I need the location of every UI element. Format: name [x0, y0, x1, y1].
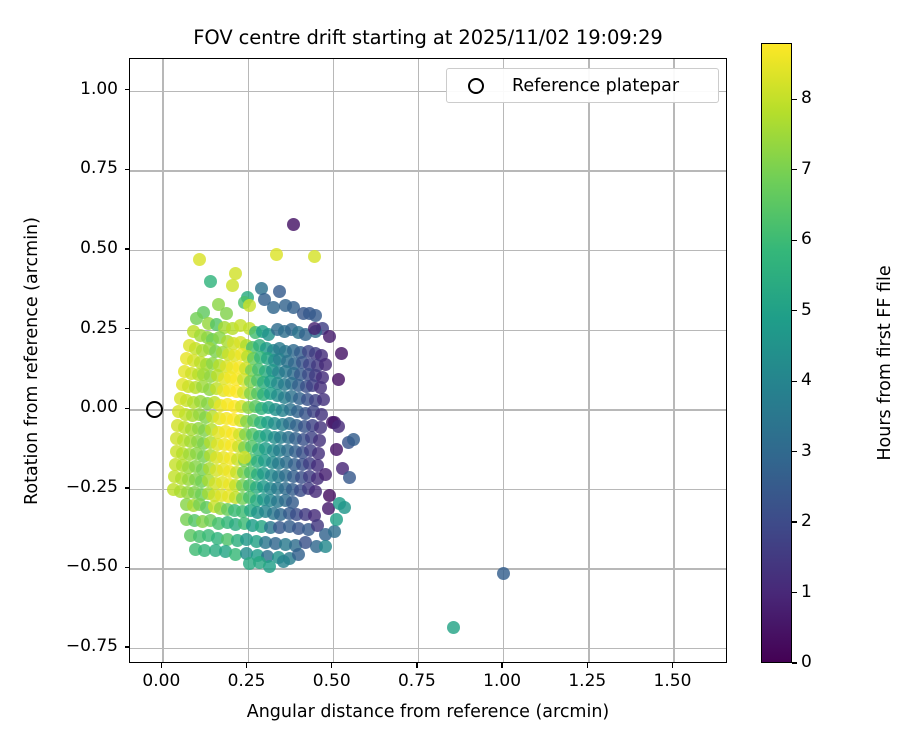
scatter-point — [309, 309, 322, 322]
x-tick-label: 1.25 — [542, 671, 632, 691]
scatter-point — [309, 485, 322, 498]
gridline-horizontal — [130, 250, 726, 251]
y-tick-mark — [125, 408, 130, 409]
gridline-vertical — [418, 59, 419, 662]
scatter-point — [238, 451, 251, 464]
x-tick-mark — [501, 663, 502, 668]
scatter-point — [220, 307, 233, 320]
colorbar-tick-label: 2 — [801, 511, 812, 531]
gridline-horizontal — [130, 648, 726, 649]
scatter-point — [343, 471, 356, 484]
scatter-point — [497, 567, 510, 580]
y-tick-mark — [125, 169, 130, 170]
scatter-point — [323, 330, 336, 343]
scatter-point — [243, 557, 256, 570]
colorbar-tick-mark — [792, 381, 797, 382]
y-tick-mark — [125, 646, 130, 647]
y-tick-mark — [125, 328, 130, 329]
gridline-vertical — [333, 59, 334, 662]
scatter-point — [270, 248, 283, 261]
scatter-point — [243, 299, 256, 312]
page-title: FOV centre drift starting at 2025/11/02 … — [129, 26, 727, 49]
scatter-point — [319, 358, 332, 371]
colorbar-tick-label: 3 — [801, 441, 812, 461]
scatter-point — [308, 322, 321, 335]
y-tick-label: 0.75 — [43, 158, 118, 178]
colorbar-tick-label: 5 — [801, 300, 812, 320]
scatter-point — [319, 468, 332, 481]
x-tick-mark — [161, 663, 162, 668]
scatter-point — [335, 347, 348, 360]
colorbar-tick-mark — [792, 521, 797, 522]
colorbar-tick-mark — [792, 451, 797, 452]
x-tick-label: 0.00 — [116, 671, 206, 691]
scatter-point — [338, 501, 351, 514]
y-tick-mark — [125, 248, 130, 249]
x-tick-mark — [331, 663, 332, 668]
colorbar-tick-label: 6 — [801, 229, 812, 249]
gridline-horizontal — [130, 170, 726, 171]
scatter-point — [317, 393, 330, 406]
scatter-point — [277, 555, 290, 568]
gridline-vertical — [588, 59, 589, 662]
x-tick-mark — [587, 663, 588, 668]
scatter-point — [193, 253, 206, 266]
x-tick-label: 0.50 — [287, 671, 377, 691]
y-tick-mark — [125, 567, 130, 568]
gridline-vertical — [673, 59, 674, 662]
scatter-point — [267, 301, 280, 314]
colorbar-tick-label: 0 — [801, 652, 812, 672]
colorbar-tick-mark — [792, 169, 797, 170]
scatter-point — [287, 218, 300, 231]
scatter-point — [328, 525, 341, 538]
colorbar-tick-mark — [792, 662, 797, 663]
scatter-point — [332, 420, 345, 433]
colorbar-tick-label: 1 — [801, 582, 812, 602]
y-tick-label: 0.50 — [43, 238, 118, 258]
scatter-point — [347, 433, 360, 446]
colorbar-tick-label: 8 — [801, 88, 812, 108]
y-tick-mark — [125, 89, 130, 90]
colorbar-tick-mark — [792, 310, 797, 311]
scatter-point — [308, 250, 321, 263]
x-tick-label: 1.00 — [457, 671, 547, 691]
colorbar[interactable] — [761, 43, 792, 663]
y-tick-label: 0.25 — [43, 318, 118, 338]
x-tick-mark — [246, 663, 247, 668]
legend-entry-label: Reference platepar — [512, 76, 679, 96]
x-tick-label: 0.25 — [202, 671, 292, 691]
figure-container: FOV centre drift starting at 2025/11/02 … — [0, 0, 900, 750]
scatter-point — [330, 513, 343, 526]
y-tick-label: 1.00 — [43, 79, 118, 99]
x-tick-label: 0.75 — [372, 671, 462, 691]
colorbar-tick-mark — [792, 592, 797, 593]
y-axis-label: Rotation from reference (arcmin) — [22, 211, 42, 511]
y-tick-label: 0.00 — [43, 397, 118, 417]
scatter-point — [204, 275, 217, 288]
colorbar-label: Hours from first FF file — [875, 213, 895, 513]
y-tick-label: −0.75 — [43, 636, 118, 656]
reference-platepar-marker — [146, 401, 163, 418]
scatter-point — [314, 381, 327, 394]
scatter-point — [319, 540, 332, 553]
scatter-point — [292, 548, 305, 561]
x-tick-mark — [672, 663, 673, 668]
colorbar-tick-mark — [792, 240, 797, 241]
y-tick-label: −0.25 — [43, 477, 118, 497]
colorbar-tick-mark — [792, 99, 797, 100]
scatter-point — [447, 621, 460, 634]
y-tick-label: −0.50 — [43, 556, 118, 576]
legend[interactable]: Reference platepar — [446, 68, 719, 103]
gridline-horizontal — [130, 568, 726, 569]
scatter-point — [190, 312, 203, 325]
colorbar-tick-label: 4 — [801, 370, 812, 390]
y-tick-mark — [125, 487, 130, 488]
scatter-point — [332, 373, 345, 386]
x-tick-label: 1.50 — [627, 671, 717, 691]
colorbar-tick-label: 7 — [801, 159, 812, 179]
x-tick-mark — [416, 663, 417, 668]
scatter-point — [226, 279, 239, 292]
legend-open-circle-icon — [468, 78, 484, 94]
scatter-point — [273, 285, 286, 298]
x-axis-label: Angular distance from reference (arcmin) — [129, 702, 727, 722]
gridline-vertical — [162, 59, 163, 662]
plot-area[interactable] — [129, 58, 727, 663]
